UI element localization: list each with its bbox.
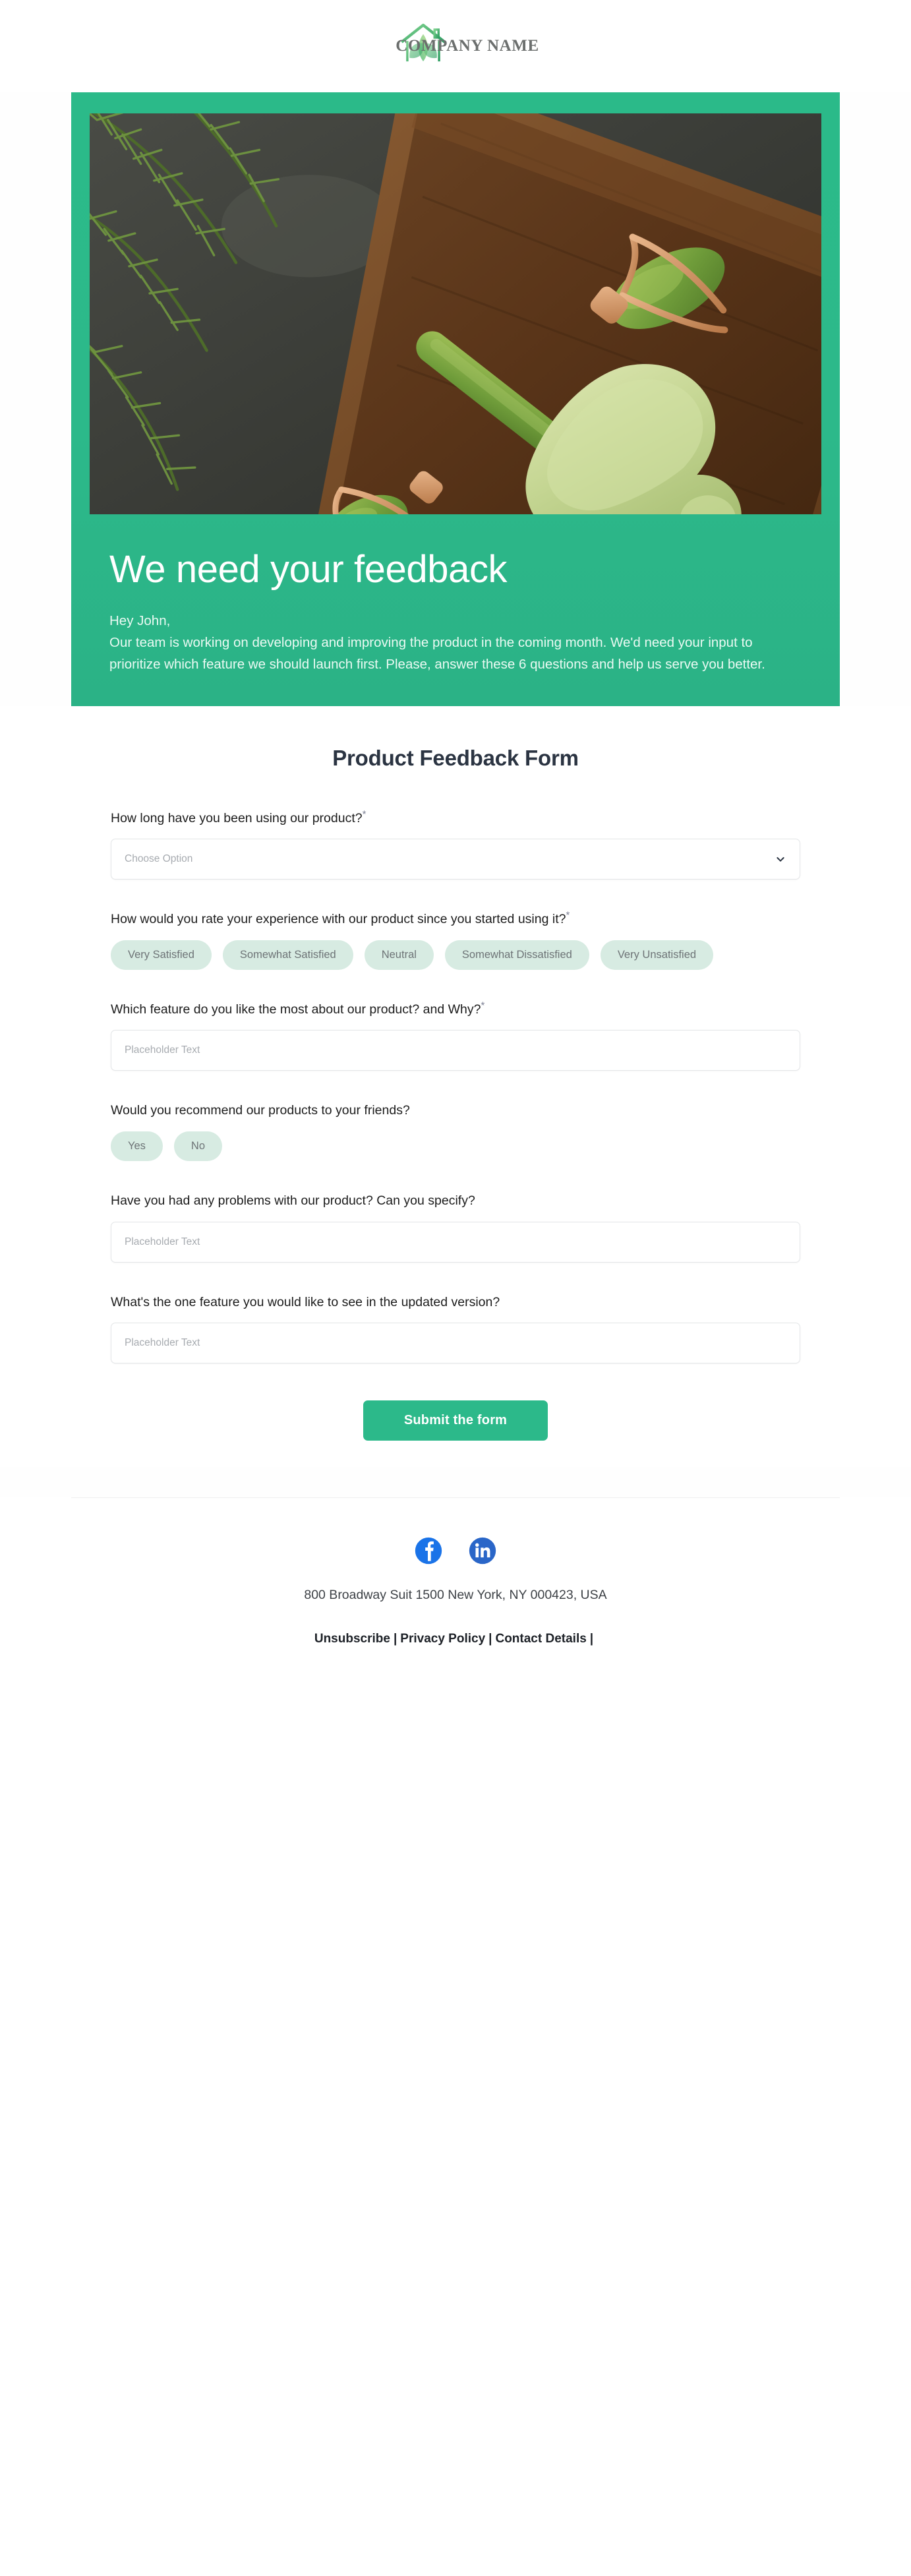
question-text-5: Have you had any problems with our produ… [111,1193,475,1208]
linkedin-icon[interactable] [468,1536,497,1565]
pill-somewhat-satisfied[interactable]: Somewhat Satisfied [223,940,353,970]
pill-yes[interactable]: Yes [111,1131,163,1161]
pill-very-satisfied[interactable]: Very Satisfied [111,940,212,970]
question-label-3: Which feature do you like the most about… [111,1000,800,1020]
recommend-pill-group: Yes No [111,1131,800,1161]
hero-paragraph: Our team is working on developing and im… [109,632,769,675]
footer-divider [71,1497,840,1498]
hero-body: Hey John, Our team is working on develop… [109,610,769,676]
required-marker-2: * [566,910,570,921]
question-block-5: Have you had any problems with our produ… [111,1191,800,1263]
hero-image [90,113,821,514]
question-text-2: How would you rate your experience with … [111,912,566,926]
form-title: Product Feedback Form [111,746,800,771]
question-label-6: What's the one feature you would like to… [111,1293,800,1313]
select-value-1: Choose Option [125,853,192,865]
required-marker-1: * [363,808,367,820]
footer-links: Unsubscribe|Privacy Policy|Contact Detai… [71,1632,840,1646]
brand-header: COMPANY NAME [0,0,911,92]
hero-greeting: Hey John, [109,610,769,632]
duration-select[interactable]: Choose Option [111,839,800,880]
question-label-1: How long have you been using our product… [111,809,800,829]
question-text-1: How long have you been using our product… [111,811,363,825]
pill-somewhat-dissatisfied[interactable]: Somewhat Dissatisfied [445,940,589,970]
footer-address: 800 Broadway Suit 1500 New York, NY 0004… [71,1588,840,1603]
brand-lockup[interactable]: COMPANY NAME [343,13,568,79]
desired-feature-input[interactable] [111,1323,800,1363]
pill-very-unsatisfied[interactable]: Very Unsatisfied [601,940,713,970]
hero-section: We need your feedback Hey John, Our team… [71,92,840,706]
question-text-3: Which feature do you like the most about… [111,1002,481,1017]
question-label-5: Have you had any problems with our produ… [111,1191,800,1211]
question-label-4: Would you recommend our products to your… [111,1101,800,1121]
favorite-feature-input[interactable] [111,1030,800,1071]
required-marker-3: * [481,1000,485,1011]
problems-input[interactable] [111,1222,800,1263]
footer-separator-2: | [485,1632,495,1646]
hero-title: We need your feedback [109,549,821,591]
facebook-icon[interactable] [414,1536,443,1565]
select-wrapper-1: Choose Option [111,839,800,880]
submit-button[interactable]: Submit the form [363,1400,548,1441]
email-body: COMPANY NAME [0,0,911,1686]
footer-separator-3: | [587,1632,597,1646]
question-block-3: Which feature do you like the most about… [111,1000,800,1071]
footer-separator-1: | [390,1632,400,1646]
submit-row: Submit the form [111,1400,800,1441]
footer-link-privacy-policy[interactable]: Privacy Policy [400,1632,485,1646]
question-text-6: What's the one feature you would like to… [111,1295,500,1309]
pill-neutral[interactable]: Neutral [365,940,434,970]
question-block-6: What's the one feature you would like to… [111,1293,800,1364]
chevron-down-icon[interactable] [775,854,786,864]
satisfaction-pill-group: Very Satisfied Somewhat Satisfied Neutra… [111,940,800,970]
question-block-1: How long have you been using our product… [111,809,800,880]
footer-link-contact-details[interactable]: Contact Details [495,1632,586,1646]
brand-name: COMPANY NAME [372,37,539,55]
question-block-2: How would you rate your experience with … [111,910,800,970]
pill-no[interactable]: No [174,1131,222,1161]
feedback-form-section: Product Feedback Form How long have you … [0,706,911,1468]
footer-link-unsubscribe[interactable]: Unsubscribe [314,1632,390,1646]
footer: 800 Broadway Suit 1500 New York, NY 0004… [0,1497,911,1686]
question-label-2: How would you rate your experience with … [111,910,800,930]
question-block-4: Would you recommend our products to your… [111,1101,800,1161]
question-text-4: Would you recommend our products to your… [111,1103,410,1118]
social-links [71,1536,840,1565]
